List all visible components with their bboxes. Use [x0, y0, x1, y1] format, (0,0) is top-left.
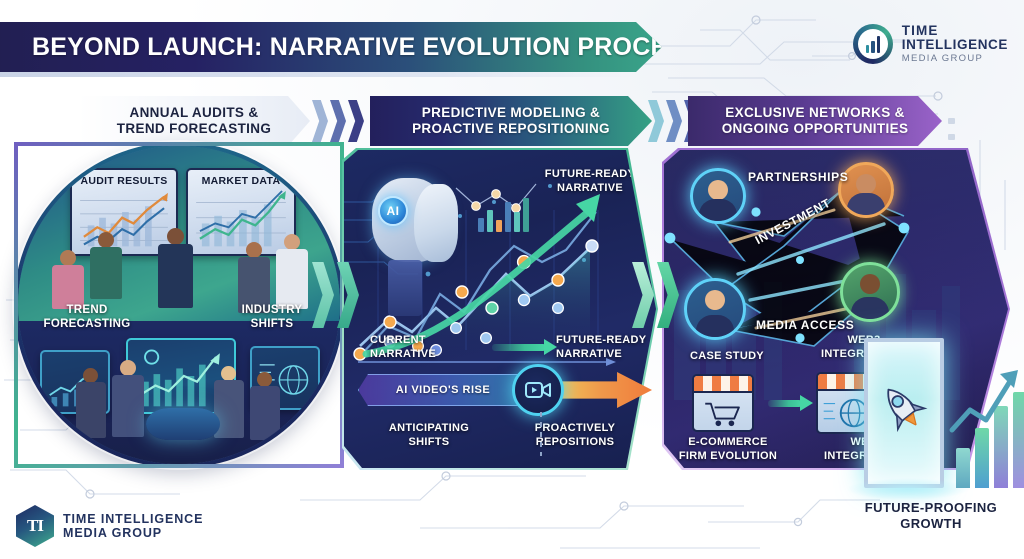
stage-1-panel: AUDIT RESULTS MARKET DATA: [14, 142, 344, 468]
market-data-screen: MARKET DATA: [186, 168, 296, 256]
hexagon-ti-monogram-icon: TI: [16, 505, 54, 547]
ecommerce-firm-evolution-caption: E-COMMERCE FIRM EVOLUTION: [664, 436, 792, 464]
anticipating-shifts-caption: ANTICIPATING SHIFTS: [370, 422, 488, 450]
brand-line-3: MEDIA GROUP: [902, 54, 1008, 64]
case-study-label: CASE STUDY: [672, 350, 782, 364]
infographic-canvas: BEYOND LAUNCH: NARRATIVE EVOLUTION PROCE…: [0, 0, 1024, 559]
header-brand-text: TIME INTELLIGENCE MEDIA GROUP: [902, 24, 1008, 64]
industry-shifts-label: INDUSTRY SHIFTS: [222, 304, 322, 332]
stage-header-2: PREDICTIVE MODELING & PROACTIVE REPOSITI…: [370, 96, 652, 146]
monogram-text: TI: [27, 516, 43, 536]
current-narrative-label: CURRENT NARRATIVE: [370, 334, 480, 362]
mini-bar-chart-icon: [478, 196, 529, 232]
header-brand-logo: TIME INTELLIGENCE MEDIA GROUP: [853, 24, 1008, 64]
bar-chart-circle-logo-icon: [853, 24, 893, 64]
brand-line-1: TIME: [902, 24, 1008, 38]
caption-divider: [540, 412, 542, 456]
ai-head-profile: [414, 184, 458, 262]
logo-bars-icon: [866, 36, 881, 53]
video-camera-icon: [512, 364, 564, 416]
ai-badge-icon: AI: [378, 196, 408, 226]
footer-brand-text: TIME INTELLIGENCE MEDIA GROUP: [63, 512, 203, 540]
ai-badge-label: AI: [387, 204, 400, 218]
stage-header-1-label: ANNUAL AUDITS & TREND FORECASTING: [117, 105, 271, 138]
ai-neck: [388, 260, 422, 316]
audit-results-screen: AUDIT RESULTS: [70, 168, 178, 256]
partnerships-label: PARTNERSHIPS: [748, 170, 848, 184]
stage-header-2-label: PREDICTIVE MODELING & PROACTIVE REPOSITI…: [412, 105, 610, 138]
media-access-label: MEDIA ACCESS: [756, 318, 854, 332]
stage-connector-chevrons-1: [312, 262, 359, 328]
shopping-cart-icon: [694, 393, 752, 432]
ecommerce-shop-icon: [692, 374, 754, 432]
video-camera-glyph: [525, 380, 551, 400]
stage-2-panel: AI FUTURE-READY NARRATIVE CURRENT NARRAT…: [344, 150, 656, 468]
shop-awning-icon: [694, 376, 752, 393]
stage-header-3: EXCLUSIVE NETWORKS & ONGOING OPPORTUNITI…: [688, 96, 942, 146]
ai-video-rise-label: AI VIDEO'S RISE: [396, 384, 490, 396]
footer-brand-logo: TI TIME INTELLIGENCE MEDIA GROUP: [16, 505, 203, 547]
network-avatar: [690, 168, 746, 224]
evolution-arrow: [768, 400, 802, 407]
hologram-pedestal: [146, 408, 220, 440]
stage-header-1: ANNUAL AUDITS & TREND FORECASTING: [78, 96, 310, 146]
market-chart-icon: [188, 170, 294, 254]
network-avatar: [684, 278, 746, 340]
audit-chart-icon: [72, 170, 176, 254]
growth-arrow-icon: [948, 366, 1024, 440]
stage-connector-chevrons-2: [632, 262, 679, 328]
footer-brand-line-2: MEDIA GROUP: [63, 526, 203, 540]
stage-header-divider-chevrons-1: [312, 100, 364, 142]
network-avatar: [840, 262, 900, 322]
title-underline-accent: [0, 72, 634, 77]
narrative-transition-arrow: [492, 344, 546, 351]
ai-video-rise-banner: AI VIDEO'S RISE: [358, 374, 528, 406]
footer-brand-line-1: TIME INTELLIGENCE: [63, 512, 203, 526]
brand-line-2: INTELLIGENCE: [902, 38, 1008, 52]
future-proofing-growth-caption: FUTURE-PROOFING GROWTH: [838, 500, 1024, 533]
page-title: BEYOND LAUNCH: NARRATIVE EVOLUTION PROCE…: [0, 33, 701, 62]
stage-header-3-label: EXCLUSIVE NETWORKS & ONGOING OPPORTUNITI…: [722, 105, 909, 138]
page-title-banner: BEYOND LAUNCH: NARRATIVE EVOLUTION PROCE…: [0, 22, 662, 72]
future-ready-narrative-label: FUTURE-READY NARRATIVE: [556, 334, 656, 362]
trend-forecasting-label: TREND FORECASTING: [32, 304, 142, 332]
future-proofing-growth-block: FUTURE-PROOFING GROWTH: [838, 336, 1024, 546]
proactively-repositions-caption: PROACTIVELY REPOSITIONS: [508, 422, 642, 450]
